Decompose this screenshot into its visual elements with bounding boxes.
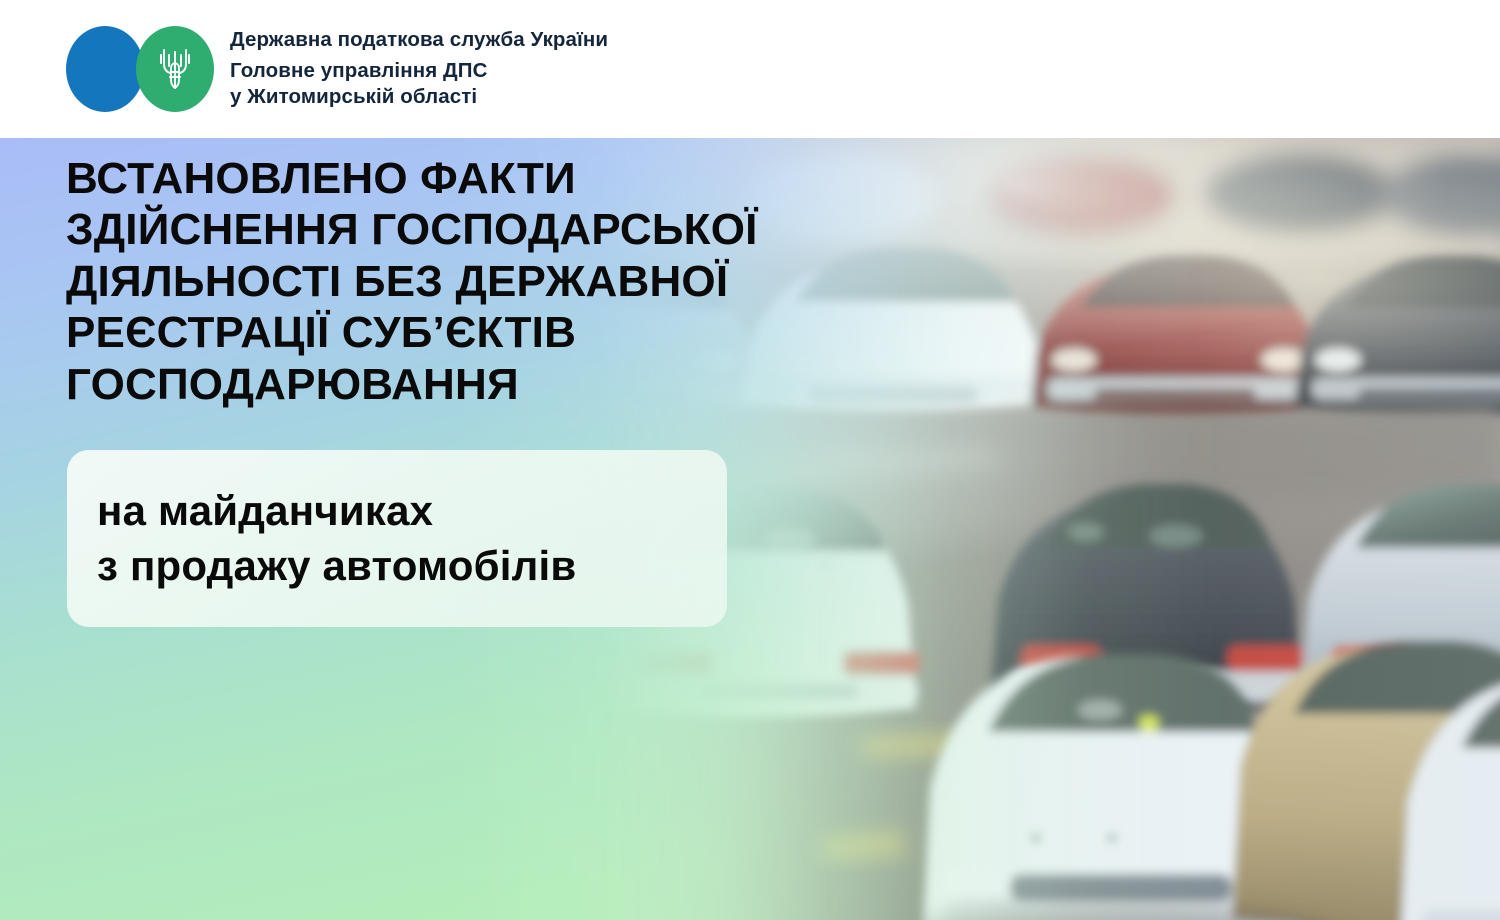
headline-line-1: ВСТАНОВЛЕНО ФАКТИ	[66, 153, 906, 204]
org-title-line-3: у Житомирській області	[230, 84, 608, 111]
header-band: Державна податкова служба України Головн…	[0, 0, 1500, 138]
poster-canvas: ВСТАНОВЛЕНО ФАКТИ ЗДІЙСНЕННЯ ГОСПОДАРСЬК…	[0, 0, 1500, 920]
headline-line-4: РЕЄСТРАЦІЇ СУБ’ЄКТІВ	[66, 307, 906, 358]
dps-logo	[66, 26, 214, 112]
page-title: ВСТАНОВЛЕНО ФАКТИ ЗДІЙСНЕННЯ ГОСПОДАРСЬК…	[66, 153, 906, 410]
headline-line-2: ЗДІЙСНЕННЯ ГОСПОДАРСЬКОЇ	[66, 204, 906, 255]
subtitle-card: на майданчиках з продажу автомобілів	[67, 450, 727, 627]
subtitle-line-2: з продажу автомобілів	[97, 539, 727, 594]
org-title-line-1: Державна податкова служба України	[230, 27, 608, 54]
subtitle-line-1: на майданчиках	[97, 484, 727, 539]
org-title-block: Державна податкова служба України Головн…	[230, 27, 608, 111]
trident-icon	[158, 46, 192, 92]
headline-line-3: ДІЯЛЬНОСТІ БЕЗ ДЕРЖАВНОЇ	[66, 256, 906, 307]
org-title-line-2: Головне управління ДПС	[230, 58, 608, 85]
blue-circle-icon	[66, 26, 144, 112]
headline-line-5: ГОСПОДАРЮВАННЯ	[66, 359, 906, 410]
